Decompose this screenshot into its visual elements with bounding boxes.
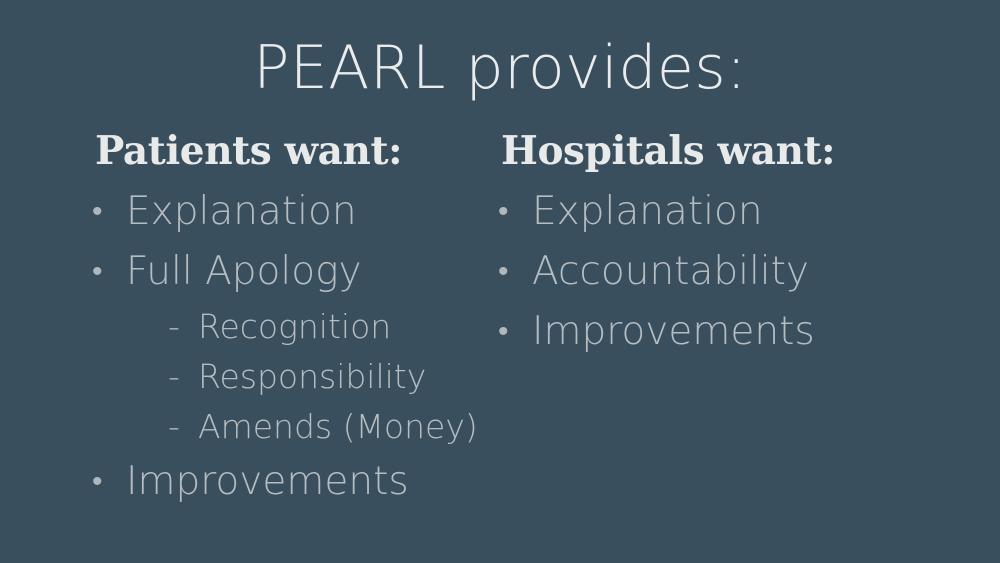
list-item: • Full Apology bbox=[90, 242, 495, 302]
list-item: • Explanation bbox=[496, 182, 956, 242]
page-title: PEARL provides: bbox=[0, 33, 1000, 103]
bullet-dot-icon: • bbox=[498, 302, 509, 362]
sub-list-item-label: Recognition bbox=[198, 307, 391, 346]
bullet-list-hospitals: • Explanation • Accountability • Improve… bbox=[496, 182, 956, 362]
dash-marker-icon: - bbox=[168, 302, 180, 352]
list-item: • Accountability bbox=[496, 242, 956, 302]
list-item-label: Explanation bbox=[532, 189, 763, 234]
column-header-patients: Patients want: bbox=[90, 126, 495, 176]
column-patients: Patients want: • Explanation • Full Apol… bbox=[90, 126, 495, 512]
column-hospitals: Hospitals want: • Explanation • Accounta… bbox=[496, 126, 956, 362]
list-item-label: Improvements bbox=[532, 309, 815, 354]
presentation-slide: PEARL provides: Patients want: • Explana… bbox=[0, 0, 1000, 563]
list-item-label: Full Apology bbox=[126, 249, 362, 294]
list-item-label: Accountability bbox=[532, 249, 809, 294]
sub-list-item: - Amends (Money) bbox=[90, 402, 495, 452]
sub-bullet-list-apology: - Recognition - Responsibility - Amends … bbox=[90, 302, 495, 452]
list-item: • Improvements bbox=[90, 452, 495, 512]
sub-list-item-label: Amends (Money) bbox=[198, 407, 478, 446]
dash-marker-icon: - bbox=[168, 352, 180, 402]
sub-list-container: - Recognition - Responsibility - Amends … bbox=[90, 302, 495, 452]
list-item-label: Explanation bbox=[126, 189, 357, 234]
bullet-dot-icon: • bbox=[92, 182, 103, 242]
list-item: • Explanation bbox=[90, 182, 495, 242]
bullet-dot-icon: • bbox=[92, 242, 103, 302]
bullet-dot-icon: • bbox=[92, 452, 103, 512]
sub-list-item-label: Responsibility bbox=[198, 357, 426, 396]
dash-marker-icon: - bbox=[168, 402, 180, 452]
list-item-label: Improvements bbox=[126, 459, 409, 504]
bullet-dot-icon: • bbox=[498, 182, 509, 242]
sub-list-item: - Responsibility bbox=[90, 352, 495, 402]
bullet-list-patients: • Explanation • Full Apology - Recogniti… bbox=[90, 182, 495, 512]
sub-list-item: - Recognition bbox=[90, 302, 495, 352]
list-item: • Improvements bbox=[496, 302, 956, 362]
column-header-hospitals: Hospitals want: bbox=[496, 126, 956, 176]
bullet-dot-icon: • bbox=[498, 242, 509, 302]
